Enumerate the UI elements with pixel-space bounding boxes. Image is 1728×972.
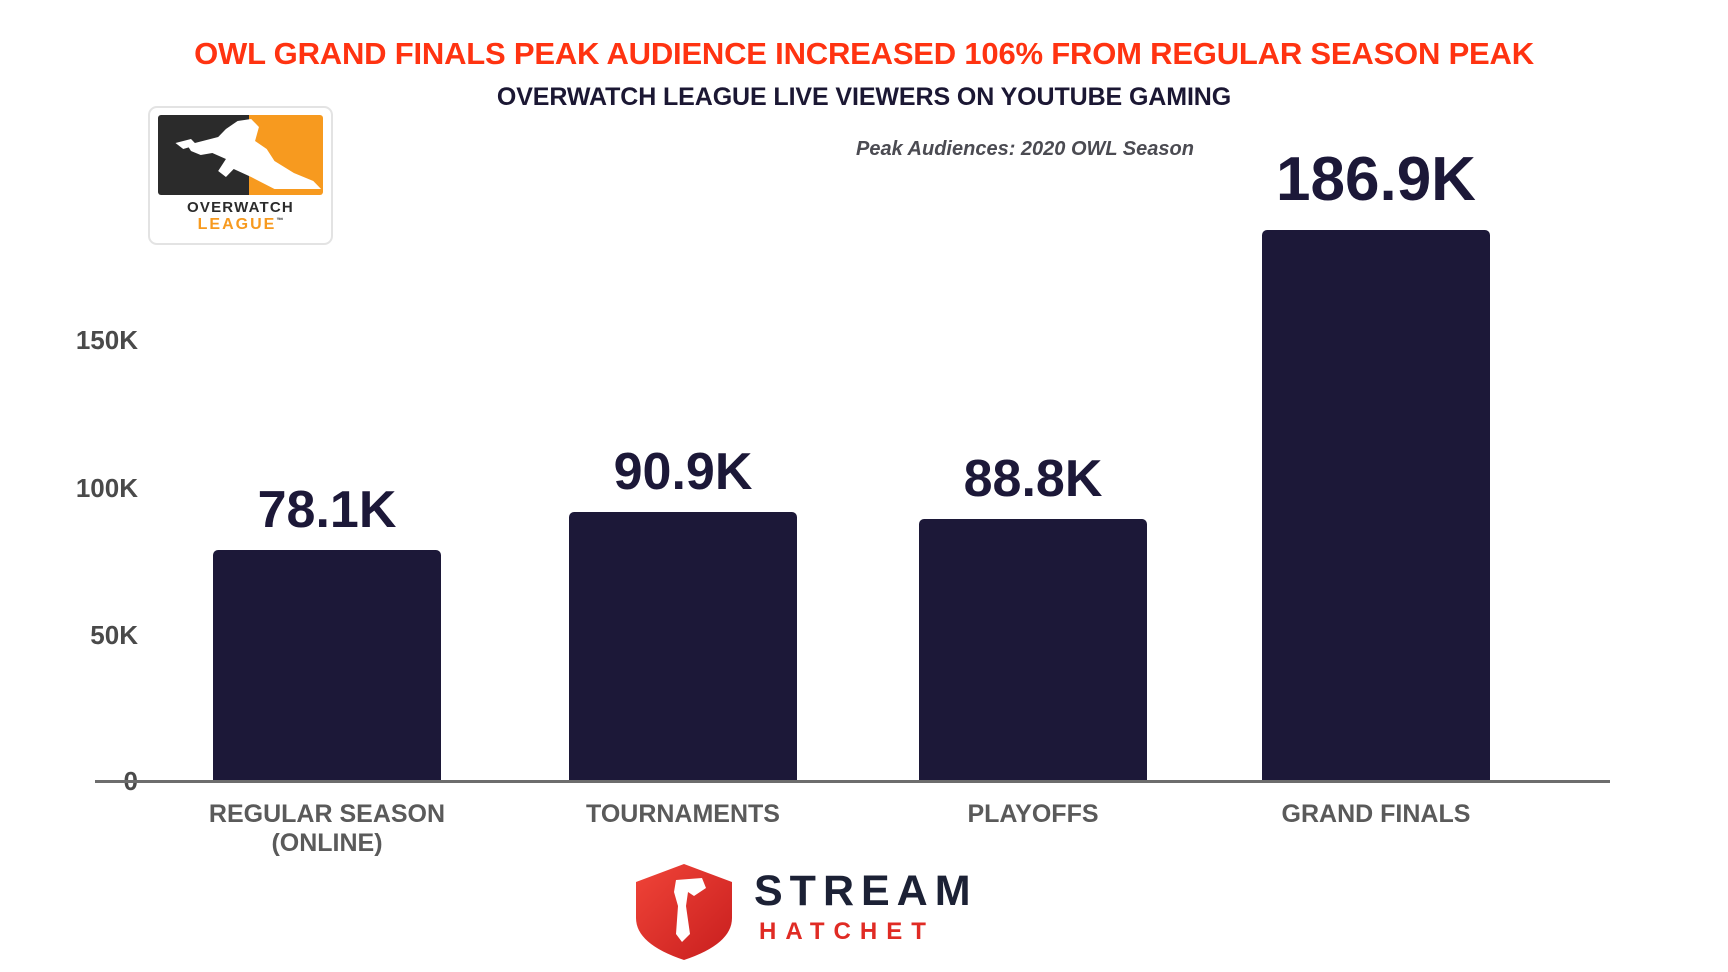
ytick-label: 50K [18, 622, 138, 648]
category-label-line2: (ONLINE) [163, 829, 491, 858]
bar-value-regular-season: 78.1K [193, 484, 461, 536]
bar-tournaments[interactable] [569, 512, 797, 780]
stream-hatchet-logo: STREAM HATCHET [632, 862, 1102, 962]
category-label-line1: PLAYOFFS [869, 800, 1197, 829]
category-label-line1: GRAND FINALS [1212, 800, 1540, 829]
category-label-tournaments: TOURNAMENTS [519, 800, 847, 829]
category-label-regular-season: REGULAR SEASON (ONLINE) [163, 800, 491, 858]
category-label-line1: TOURNAMENTS [519, 800, 847, 829]
ytick-label: 150K [18, 327, 138, 353]
stream-hatchet-hatchet-text: HATCHET [754, 920, 978, 944]
category-label-grand-finals: GRAND FINALS [1212, 800, 1540, 829]
bar-value-playoffs: 88.8K [899, 453, 1167, 505]
stream-hatchet-wordmark: STREAM HATCHET [754, 870, 978, 944]
ytick-label: 100K [18, 475, 138, 501]
bar-playoffs[interactable] [919, 519, 1147, 780]
bar-value-tournaments: 90.9K [549, 446, 817, 498]
plot-area: 150K 100K 50K 0 78.1K REGULAR SEASON (ON… [0, 0, 1728, 972]
stream-hatchet-stream-text: STREAM [754, 870, 978, 913]
bar-grand-finals[interactable] [1262, 230, 1490, 780]
category-label-playoffs: PLAYOFFS [869, 800, 1197, 829]
bar-value-grand-finals: 186.9K [1242, 149, 1510, 211]
hatchet-shield-icon [632, 862, 737, 962]
x-axis-line [95, 780, 1610, 783]
chart-canvas: OWL GRAND FINALS PEAK AUDIENCE INCREASED… [0, 0, 1728, 972]
category-label-line1: REGULAR SEASON [163, 800, 491, 829]
bar-regular-season[interactable] [213, 550, 441, 780]
